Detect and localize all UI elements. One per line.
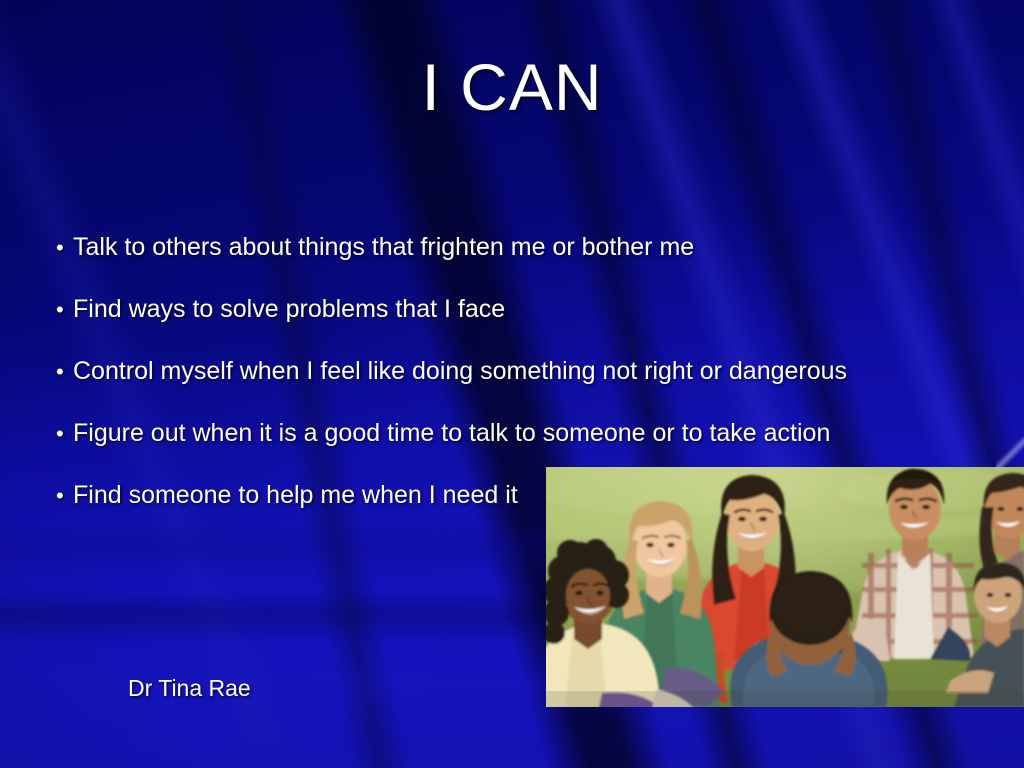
bullet-text: Find someone to help me when I need it bbox=[73, 480, 518, 510]
slide-title: I CAN bbox=[0, 54, 1024, 120]
list-item: • Control myself when I feel like doing … bbox=[56, 356, 936, 418]
presentation-slide: I CAN • Talk to others about things that… bbox=[0, 0, 1024, 768]
list-item: • Talk to others about things that frigh… bbox=[56, 232, 936, 294]
photo-corner-sparkle-icon bbox=[996, 436, 1024, 470]
group-photo-image bbox=[546, 467, 1024, 707]
bullet-text: Talk to others about things that frighte… bbox=[73, 232, 694, 262]
bullet-text: Control myself when I feel like doing so… bbox=[73, 356, 847, 386]
bullet-point-icon: • bbox=[56, 481, 73, 511]
group-photo-illustration bbox=[546, 467, 1024, 707]
bullet-text: Find ways to solve problems that I face bbox=[73, 294, 505, 324]
bullet-point-icon: • bbox=[56, 295, 73, 325]
author-attribution: Dr Tina Rae bbox=[128, 674, 251, 702]
list-item: • Find ways to solve problems that I fac… bbox=[56, 294, 936, 356]
bullet-point-icon: • bbox=[56, 233, 73, 263]
bullet-point-icon: • bbox=[56, 357, 73, 387]
bullet-point-icon: • bbox=[56, 419, 73, 449]
bullet-text: Figure out when it is a good time to tal… bbox=[73, 418, 830, 448]
